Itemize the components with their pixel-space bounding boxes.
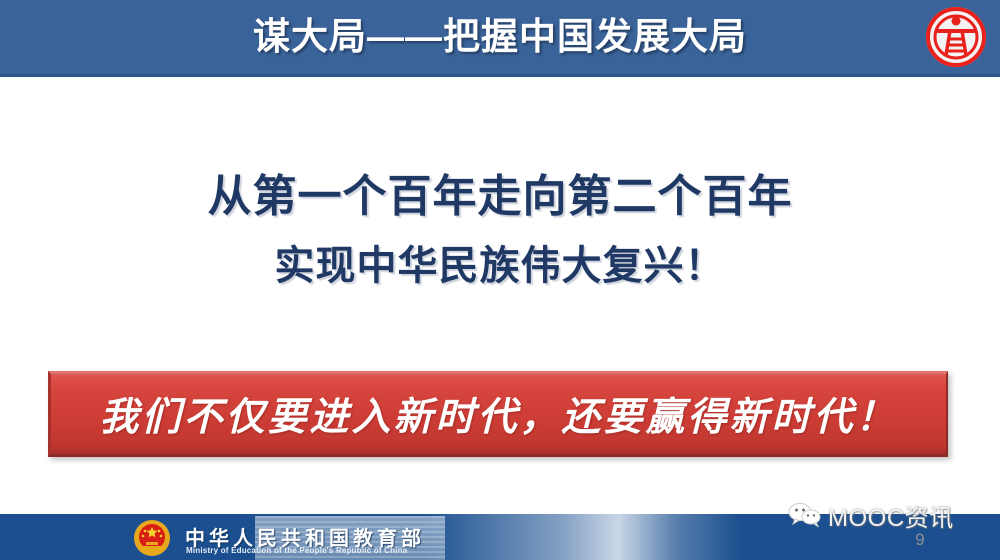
slide-canvas: 谋大局——把握中国发展大局 从第一个百年走向第二个百年 实现中华民族伟大复兴！ … — [0, 0, 1000, 560]
watermark: MOOC资讯 — [788, 498, 968, 532]
wechat-icon — [788, 502, 822, 528]
page-title: 谋大局——把握中国发展大局 — [0, 0, 1000, 74]
main-heading-line-1: 从第一个百年走向第二个百年 — [0, 160, 1000, 224]
main-heading-line-2: 实现中华民族伟大复兴！ — [0, 233, 1000, 291]
watermark-text: MOOC资讯 — [828, 498, 954, 533]
ministry-name-en: Ministry of Education of the People's Re… — [186, 546, 407, 555]
highlight-banner: 我们不仅要进入新时代，还要赢得新时代！ — [48, 371, 948, 457]
footer-gradient-overlay — [420, 514, 740, 560]
university-crest-icon — [924, 5, 988, 69]
page-number: 9 — [900, 530, 940, 550]
highlight-banner-text: 我们不仅要进入新时代，还要赢得新时代！ — [51, 374, 946, 454]
slide-header-bar: 谋大局——把握中国发展大局 — [0, 0, 1000, 77]
china-national-emblem-icon — [132, 518, 172, 558]
